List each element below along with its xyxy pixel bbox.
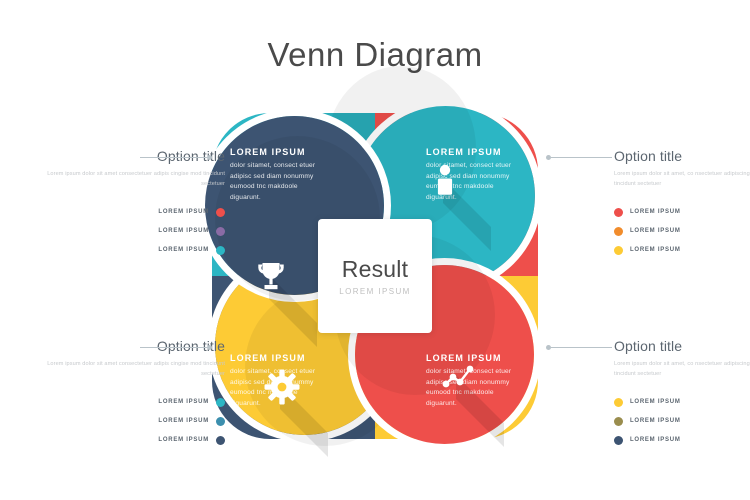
- legend-label: LOREM IPSUM: [630, 209, 681, 215]
- option-description: Lorem ipsum dolor sit amet consectetuer …: [45, 170, 225, 190]
- legend-item[interactable]: LOREM IPSUM: [45, 398, 225, 407]
- connector-top-right: [546, 153, 612, 162]
- result-card[interactable]: Result LOREM IPSUM: [318, 219, 432, 333]
- option-title: Option title: [614, 148, 750, 164]
- legend-dot: [614, 227, 623, 236]
- legend-label: LOREM IPSUM: [158, 228, 209, 234]
- option-block-top-left: Option title Lorem ipsum dolor sit amet …: [45, 148, 225, 265]
- result-subtitle: LOREM IPSUM: [339, 287, 410, 296]
- legend-item[interactable]: LOREM IPSUM: [45, 436, 225, 445]
- legend-item[interactable]: LOREM IPSUM: [614, 208, 750, 217]
- quadrant-text-top-left: LOREM IPSUM dolor sitamet, consect etuer…: [230, 147, 326, 204]
- legend-dot: [614, 436, 623, 445]
- venn-diagram: LOREM IPSUM dolor sitamet, consect etuer…: [212, 113, 538, 439]
- option-legend: LOREM IPSUM LOREM IPSUM LOREM IPSUM: [45, 398, 225, 445]
- legend-dot: [216, 398, 225, 407]
- legend-item[interactable]: LOREM IPSUM: [614, 246, 750, 255]
- legend-dot: [216, 436, 225, 445]
- legend-label: LOREM IPSUM: [158, 399, 209, 405]
- connector-bottom-right: [546, 343, 612, 352]
- legend-item[interactable]: LOREM IPSUM: [614, 417, 750, 426]
- page-title: Venn Diagram: [0, 36, 750, 74]
- legend-item[interactable]: LOREM IPSUM: [614, 436, 750, 445]
- option-legend: LOREM IPSUM LOREM IPSUM LOREM IPSUM: [614, 398, 750, 445]
- option-title: Option title: [614, 338, 750, 354]
- legend-label: LOREM IPSUM: [630, 418, 681, 424]
- trophy-icon: [245, 251, 297, 303]
- line-chart-icon: [432, 351, 484, 403]
- gear-icon: [256, 361, 308, 413]
- option-block-top-right: Option title Lorem ipsum dolor sit amet,…: [614, 148, 750, 265]
- legend-label: LOREM IPSUM: [158, 209, 209, 215]
- result-title: Result: [342, 256, 408, 283]
- legend-label: LOREM IPSUM: [158, 247, 209, 253]
- legend-item[interactable]: LOREM IPSUM: [45, 208, 225, 217]
- connector-top-left: [140, 153, 212, 162]
- legend-dot: [614, 417, 623, 426]
- legend-dot: [216, 227, 225, 236]
- person-icon: [419, 155, 471, 207]
- quadrant-heading: LOREM IPSUM: [230, 147, 326, 157]
- legend-label: LOREM IPSUM: [630, 437, 681, 443]
- option-block-bottom-right: Option title Lorem ipsum dolor sit amet,…: [614, 338, 750, 455]
- legend-item[interactable]: LOREM IPSUM: [45, 246, 225, 255]
- legend-dot: [614, 208, 623, 217]
- legend-item[interactable]: LOREM IPSUM: [45, 227, 225, 236]
- option-legend: LOREM IPSUM LOREM IPSUM LOREM IPSUM: [614, 208, 750, 255]
- option-legend: LOREM IPSUM LOREM IPSUM LOREM IPSUM: [45, 208, 225, 255]
- legend-dot: [216, 246, 225, 255]
- legend-item[interactable]: LOREM IPSUM: [45, 417, 225, 426]
- connector-bottom-left: [140, 343, 212, 352]
- option-description: Lorem ipsum dolor sit amet, co nsectetue…: [614, 360, 750, 380]
- legend-label: LOREM IPSUM: [630, 228, 681, 234]
- option-description: Lorem ipsum dolor sit amet consectetuer …: [45, 360, 225, 380]
- legend-label: LOREM IPSUM: [158, 437, 209, 443]
- legend-dot: [216, 208, 225, 217]
- option-block-bottom-left: Option title Lorem ipsum dolor sit amet …: [45, 338, 225, 455]
- quadrant-body: dolor sitamet, consect etuer adipisc sed…: [230, 161, 326, 204]
- legend-item[interactable]: LOREM IPSUM: [614, 398, 750, 407]
- legend-item[interactable]: LOREM IPSUM: [614, 227, 750, 236]
- legend-dot: [614, 246, 623, 255]
- legend-label: LOREM IPSUM: [158, 418, 209, 424]
- option-description: Lorem ipsum dolor sit amet, co nsectetue…: [614, 170, 750, 190]
- legend-label: LOREM IPSUM: [630, 247, 681, 253]
- legend-dot: [216, 417, 225, 426]
- legend-dot: [614, 398, 623, 407]
- legend-label: LOREM IPSUM: [630, 399, 681, 405]
